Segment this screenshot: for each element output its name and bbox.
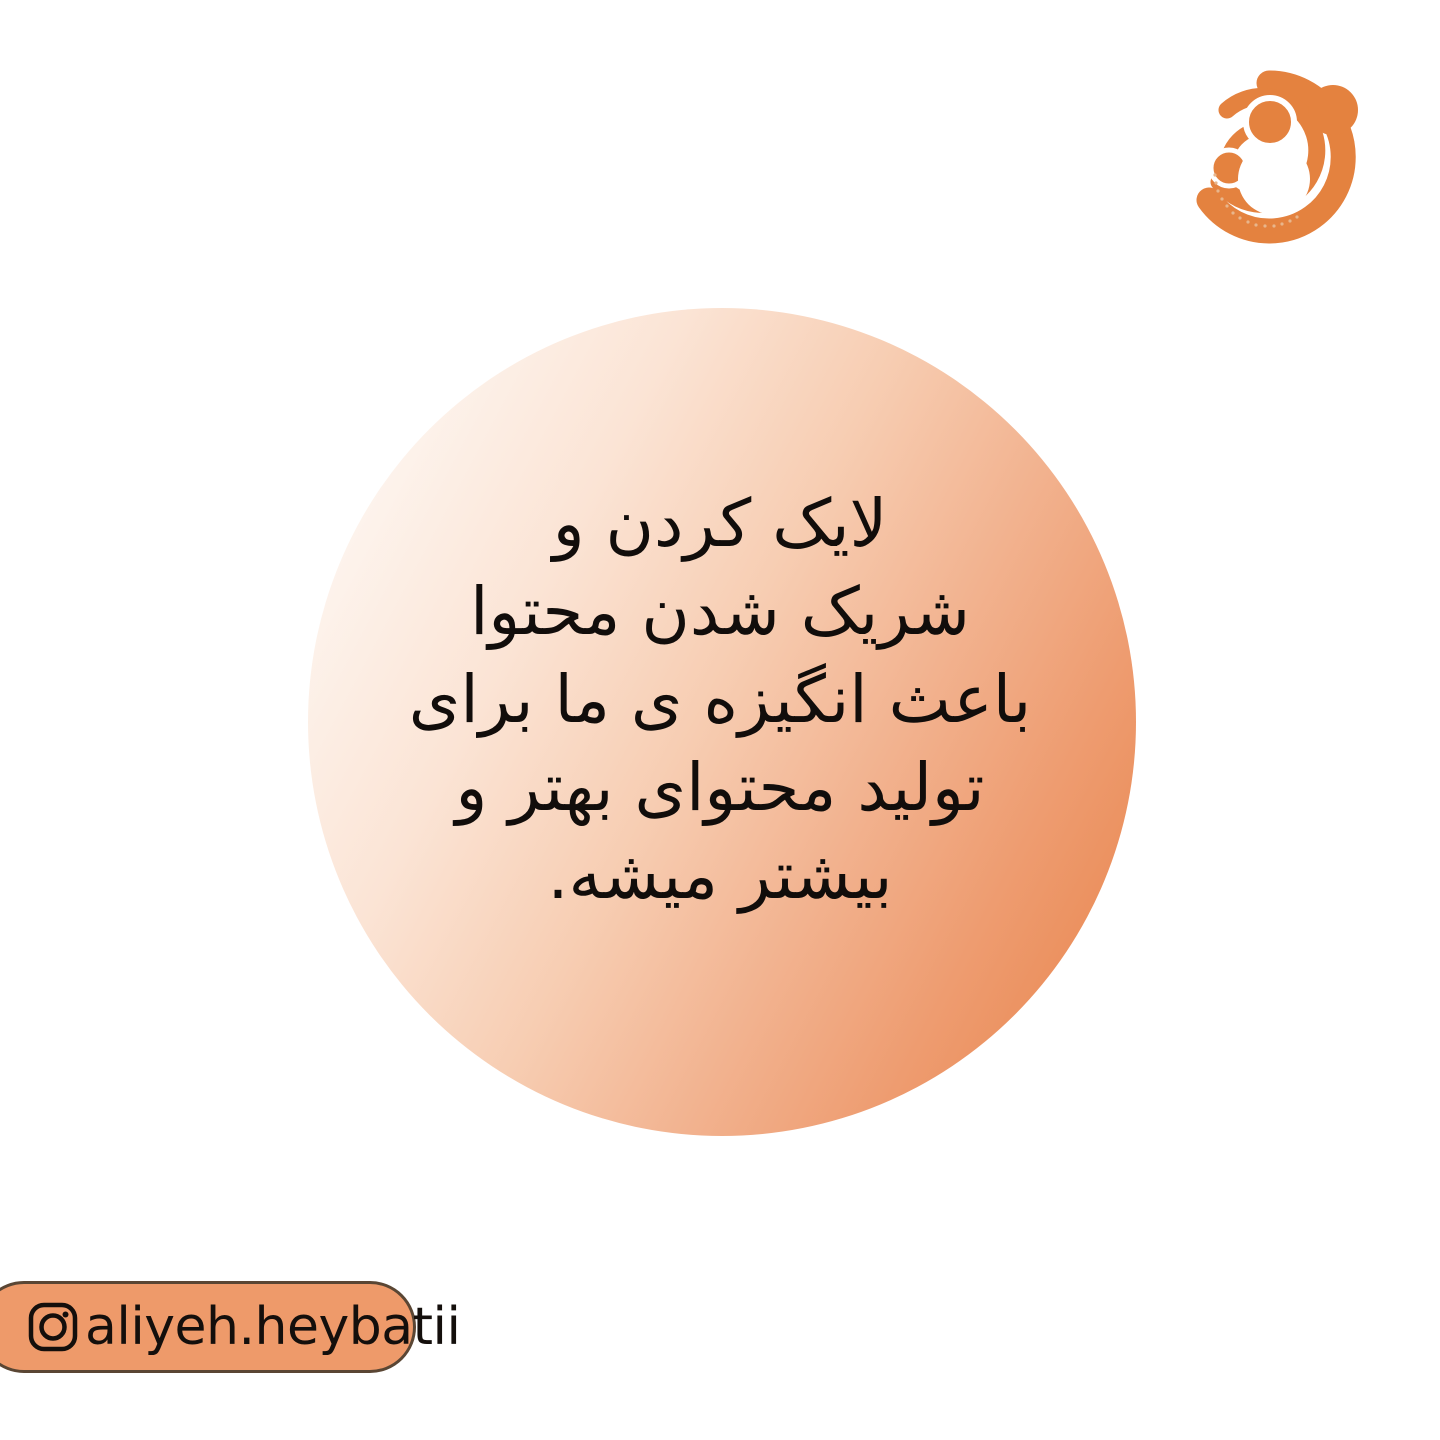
instagram-icon: [27, 1301, 79, 1353]
instagram-handle-text: aliyeh.heybatii: [85, 1301, 460, 1353]
instagram-handle-badge[interactable]: aliyeh.heybatii: [0, 1281, 416, 1373]
quote-text: لایک کردن و شریک شدن محتوا باعث انگیزه ی…: [290, 480, 1150, 920]
brand-logo: [1186, 62, 1368, 244]
quote-line-5: بیشتر میشه.: [290, 832, 1150, 920]
family-circles-logo-icon: [1186, 62, 1368, 244]
quote-line-1: لایک کردن و: [290, 480, 1150, 568]
quote-line-4: تولید محتوای بهتر و: [290, 744, 1150, 832]
poster-canvas: لایک کردن و شریک شدن محتوا باعث انگیزه ی…: [0, 0, 1440, 1440]
quote-line-3: باعث انگیزه ی ما برای: [290, 656, 1150, 744]
quote-line-2: شریک شدن محتوا: [290, 568, 1150, 656]
